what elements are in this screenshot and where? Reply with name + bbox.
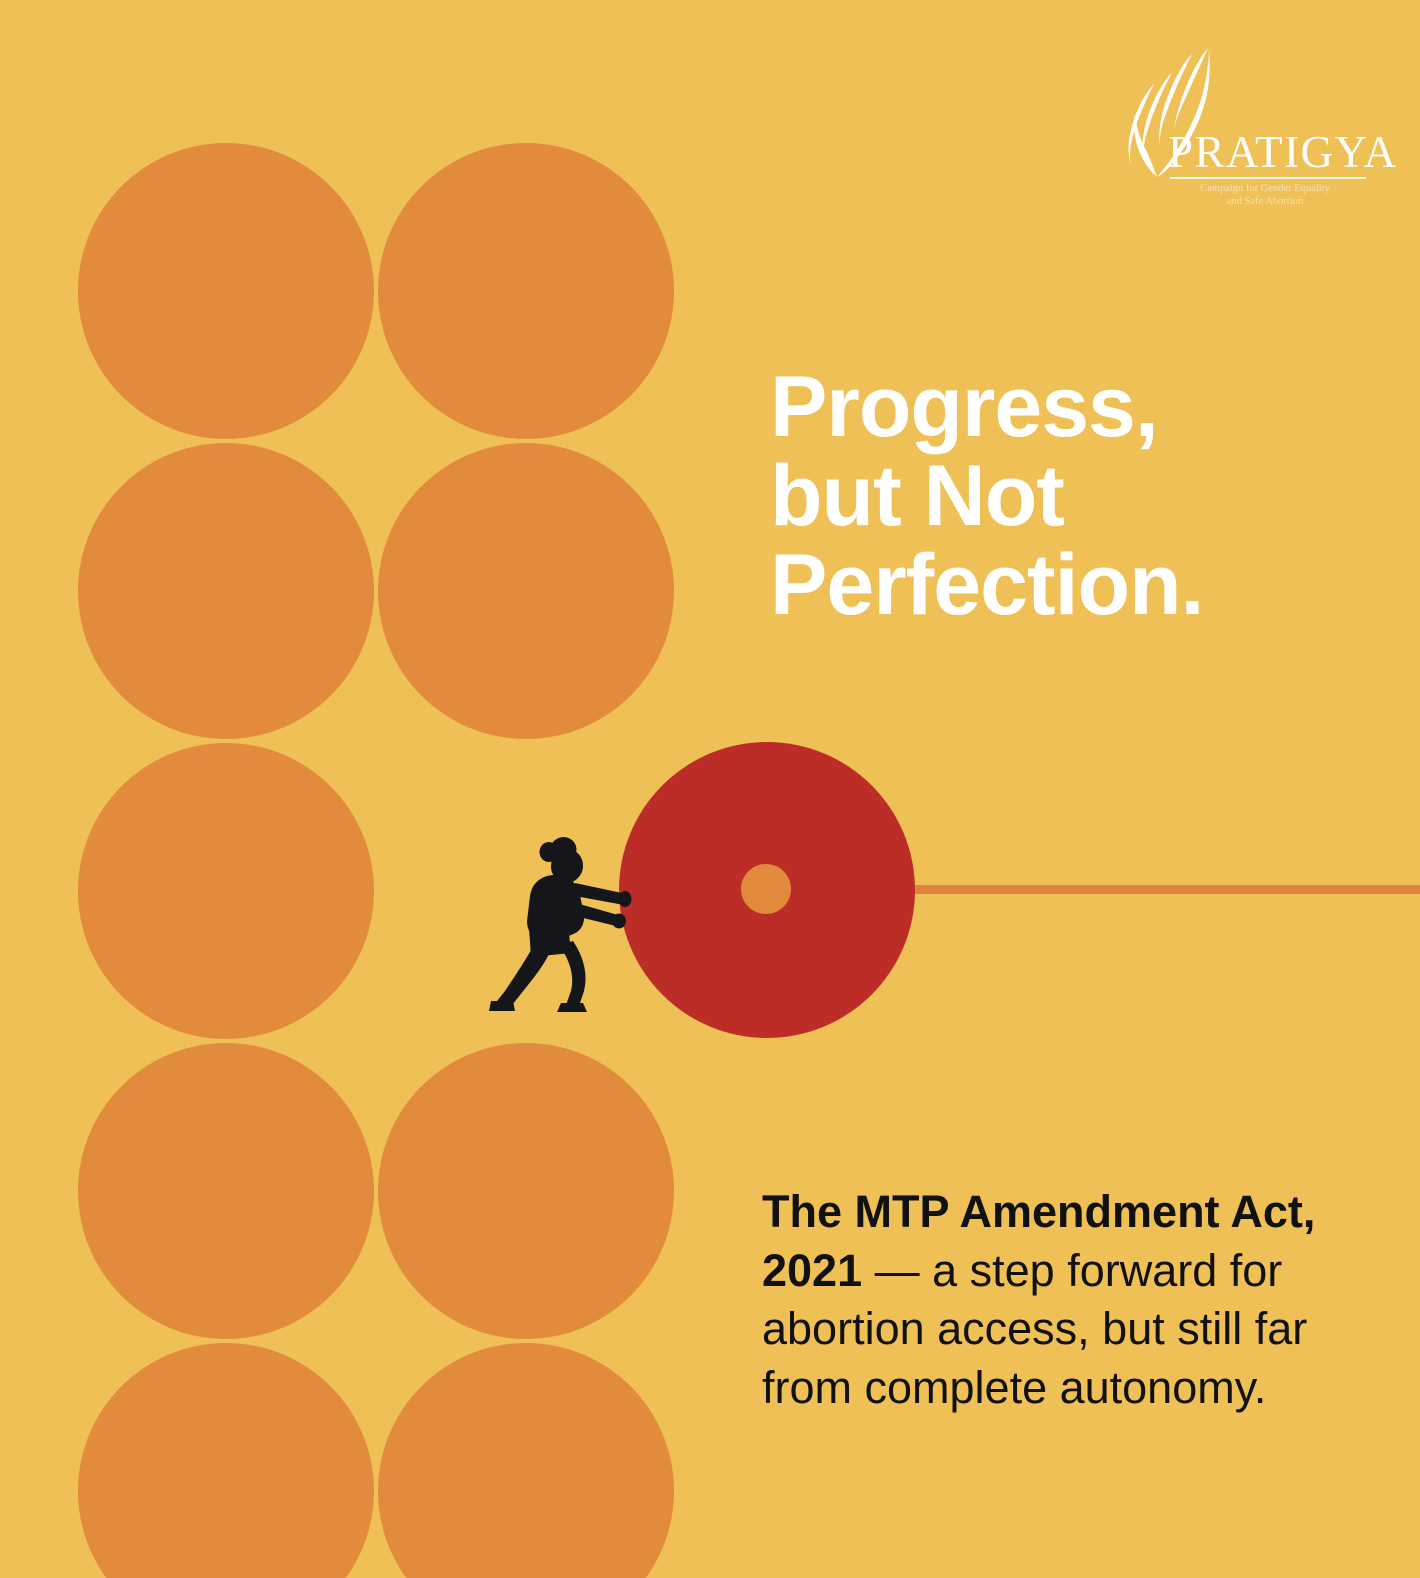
headline-line-3: Perfection. bbox=[770, 537, 1203, 633]
decorative-circle-8 bbox=[78, 1343, 374, 1578]
decorative-circle-1 bbox=[78, 143, 374, 439]
page-headline: Progress, but Not Perfection. bbox=[770, 363, 1390, 631]
body-paragraph: The MTP Amendment Act, 2021 — a step for… bbox=[762, 1183, 1342, 1417]
horizontal-axis-line bbox=[767, 885, 1420, 894]
headline-line-1: Progress, bbox=[770, 359, 1158, 455]
logo-divider-rule bbox=[1170, 177, 1366, 179]
red-boulder bbox=[619, 742, 915, 1038]
decorative-circle-5 bbox=[78, 743, 374, 1039]
headline-line-2: but Not bbox=[770, 448, 1064, 544]
decorative-circle-6 bbox=[78, 1043, 374, 1339]
poster-canvas: PRATIGYA Campaign for Gender Equality an… bbox=[0, 0, 1420, 1578]
decorative-circle-3 bbox=[78, 443, 374, 739]
decorative-circle-7 bbox=[378, 1043, 674, 1339]
logo-tagline-line1: Campaign for Gender Equality bbox=[1160, 182, 1370, 195]
logo-tagline-line2: and Safe Abortion bbox=[1160, 195, 1370, 208]
logo-tagline: Campaign for Gender Equality and Safe Ab… bbox=[1160, 182, 1370, 208]
logo-wordmark: PRATIGYA bbox=[1168, 130, 1368, 175]
woman-pushing-boulder-silhouette bbox=[483, 833, 653, 1018]
decorative-circle-2 bbox=[378, 143, 674, 439]
decorative-circle-grid bbox=[0, 0, 720, 1578]
boulder-hub-dot bbox=[741, 864, 791, 914]
pratigya-logo[interactable]: PRATIGYA Campaign for Gender Equality an… bbox=[1108, 44, 1368, 214]
decorative-circle-4 bbox=[378, 443, 674, 739]
decorative-circle-9 bbox=[378, 1343, 674, 1578]
